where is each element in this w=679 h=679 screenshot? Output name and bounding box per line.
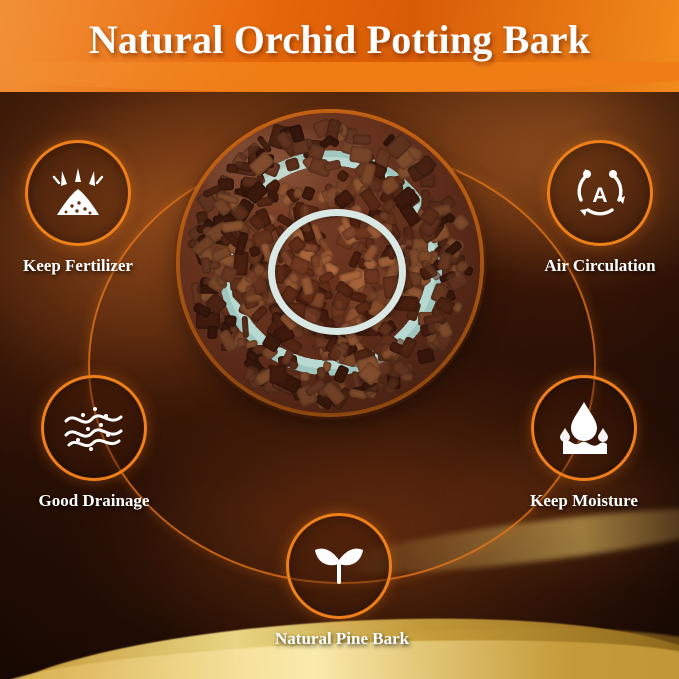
- feature-icon-circle: A: [547, 140, 653, 246]
- feature-good-drainage[interactable]: Good Drainage: [30, 375, 158, 511]
- feature-label: Natural Pine Bark: [275, 629, 403, 649]
- feature-icon-circle: [531, 375, 637, 481]
- fertilizer-sprinkle-icon: [48, 165, 108, 221]
- page-title: Natural Orchid Potting Bark: [0, 16, 679, 63]
- feature-keep-moisture[interactable]: Keep Moisture: [520, 375, 648, 511]
- product-infographic: Natural Orchid Potting Bark: [0, 0, 679, 679]
- feature-label: Keep Moisture: [520, 491, 648, 511]
- drainage-icon: [61, 399, 127, 457]
- feature-icon-circle: [25, 140, 131, 246]
- svg-text:A: A: [592, 184, 607, 207]
- feature-label: Air Circulation: [536, 256, 664, 276]
- product-photo: [180, 113, 480, 413]
- feature-air-circulation[interactable]: A Air Circulation: [536, 140, 664, 276]
- feature-label: Good Drainage: [30, 491, 158, 511]
- feature-label: Keep Fertilizer: [14, 256, 142, 276]
- feature-icon-circle: [41, 375, 147, 481]
- water-drop-icon: [553, 398, 615, 458]
- inner-white-ring: [268, 209, 406, 335]
- feature-natural-pine-bark[interactable]: Natural Pine Bark: [275, 513, 403, 649]
- seedling-icon: [307, 538, 371, 594]
- air-circulation-icon: A: [569, 164, 631, 222]
- feature-keep-fertilizer[interactable]: Keep Fertilizer: [14, 140, 142, 276]
- header-curve: [0, 62, 679, 92]
- feature-icon-circle: [286, 513, 392, 619]
